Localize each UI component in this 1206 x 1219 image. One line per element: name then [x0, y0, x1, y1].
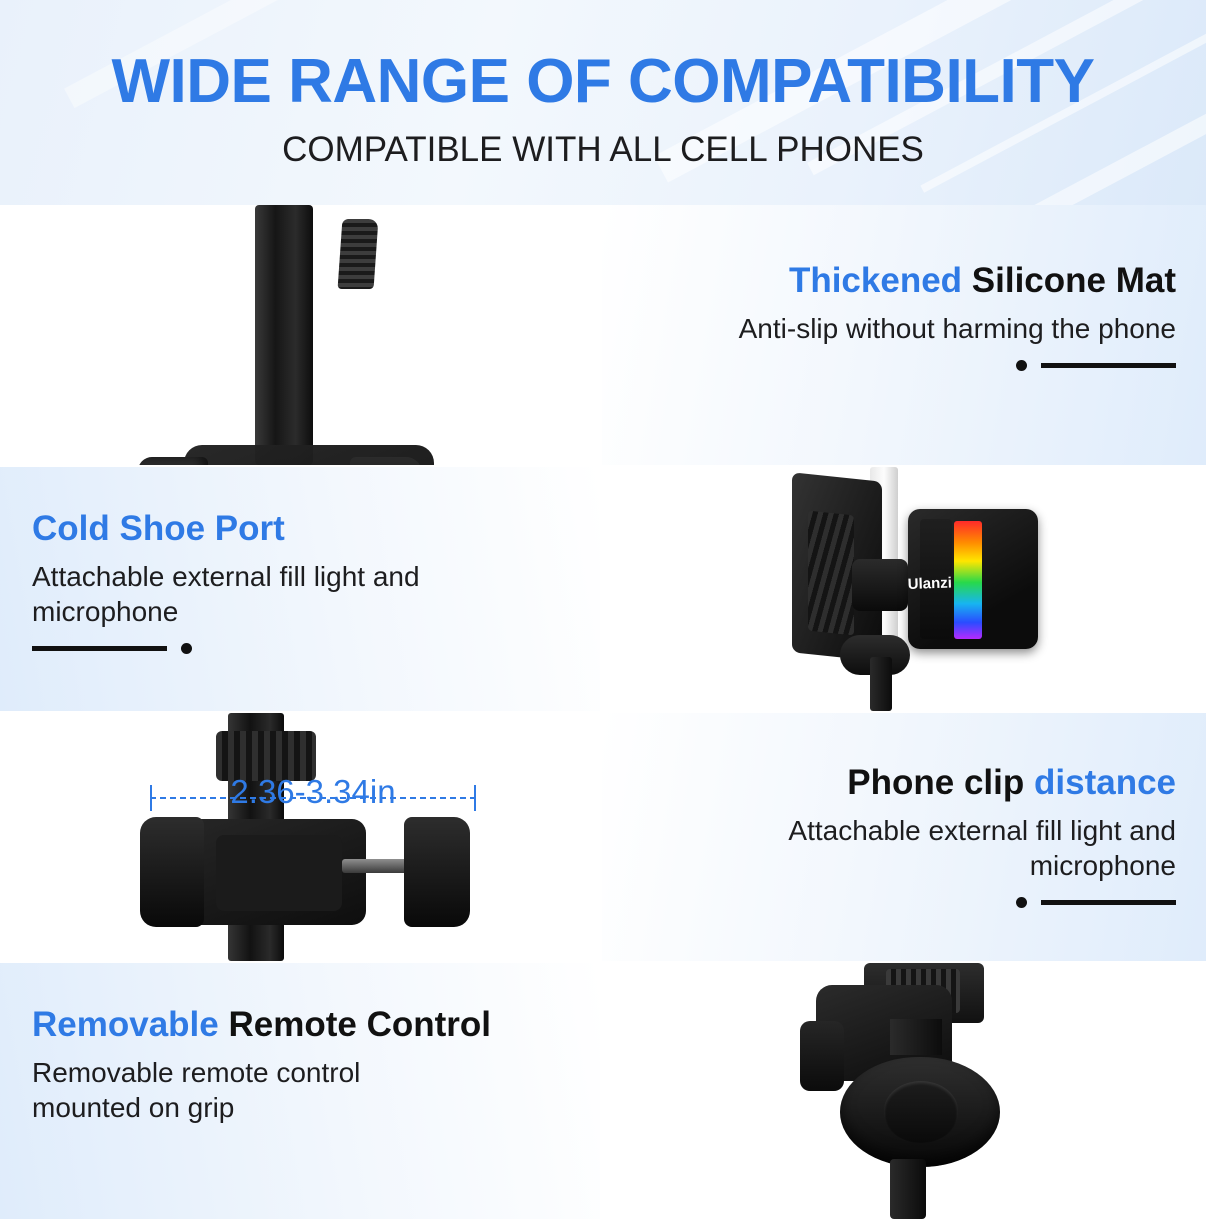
- remote-button-shape: [884, 1081, 958, 1143]
- dot-icon: [1016, 360, 1027, 371]
- photo-clip-distance: 2.36-3.34in: [0, 713, 600, 961]
- feature-heading-dark: Remote Control: [228, 1005, 491, 1044]
- dash-icon: [1041, 363, 1176, 368]
- feature-description-coldshoe: Attachable external fill light and micro…: [32, 559, 502, 629]
- page-subtitle: COMPATIBLE WITH ALL CELL PHONES: [0, 130, 1206, 170]
- dash-icon: [32, 646, 167, 651]
- dash-icon: [1041, 900, 1176, 905]
- feature-remote-control: Removable Remote Control Removable remot…: [0, 963, 600, 1219]
- mic-grille-shape: [808, 511, 854, 636]
- header-banner: WIDE RANGE OF COMPATIBILITY COMPATIBLE W…: [0, 0, 1206, 205]
- feature-heading-accent: Removable: [32, 1005, 219, 1044]
- extension-rail-shape: [342, 859, 412, 873]
- ornament-distance: [636, 897, 1176, 908]
- feature-silicone-mat: Thickened Silicone Mat Anti-slip without…: [602, 205, 1206, 465]
- feature-description-distance: Attachable external fill light and micro…: [636, 813, 1176, 883]
- photo-remote-mount: [602, 963, 1206, 1219]
- feature-heading-accent: Thickened: [789, 261, 962, 300]
- feature-heading-silicone: Thickened Silicone Mat: [636, 261, 1176, 301]
- ornament-coldshoe: [32, 643, 572, 654]
- measurement-label: 2.36-3.34in: [150, 773, 476, 811]
- grip-shaft-shape: [890, 1159, 926, 1219]
- stem-shape: [870, 657, 892, 711]
- clip-right-jaw-shape: [404, 817, 470, 927]
- feature-heading-accent: Cold Shoe Port: [32, 509, 285, 548]
- feature-heading-coldshoe: Cold Shoe Port: [32, 509, 572, 549]
- product-feature-infographic: WIDE RANGE OF COMPATIBILITY COMPATIBLE W…: [0, 0, 1206, 1219]
- dot-icon: [181, 643, 192, 654]
- feature-grid: Thickened Silicone Mat Anti-slip without…: [0, 205, 1206, 1219]
- feature-description-remote: Removable remote control mounted on grip: [32, 1055, 452, 1125]
- feature-description-silicone: Anti-slip without harming the phone: [636, 311, 1176, 346]
- clip-left-jaw-shape: [140, 817, 204, 927]
- feature-phone-clip-distance: Phone clip distance Attachable external …: [602, 713, 1206, 961]
- page-title: WIDE RANGE OF COMPATIBILITY: [0, 46, 1206, 117]
- feature-heading-remote: Removable Remote Control: [32, 1005, 600, 1045]
- brand-label: Ulanzi: [907, 574, 964, 610]
- clip-texture-shape: [338, 219, 379, 289]
- feature-cold-shoe-port: Cold Shoe Port Attachable external fill …: [0, 467, 600, 711]
- side-bracket-shape: [800, 1021, 844, 1091]
- feature-heading-distance: Phone clip distance: [636, 763, 1176, 803]
- clip-left-jaw-shape: [138, 457, 208, 465]
- clip-right-jaw-shape: [350, 457, 422, 465]
- feature-heading-accent: distance: [1034, 763, 1176, 802]
- silicone-pad-shape: [216, 835, 342, 911]
- photo-phone-clip-closeup: [0, 205, 600, 465]
- photo-fill-light: Ulanzi: [602, 467, 1206, 711]
- feature-heading-dark: Silicone Mat: [972, 261, 1176, 300]
- cold-shoe-knob-shape: [852, 559, 908, 611]
- ornament-silicone: [636, 360, 1176, 371]
- feature-heading-dark: Phone clip: [847, 763, 1024, 802]
- neck-shape: [890, 1019, 942, 1055]
- clip-pole-shape: [255, 205, 313, 465]
- dot-icon: [1016, 897, 1027, 908]
